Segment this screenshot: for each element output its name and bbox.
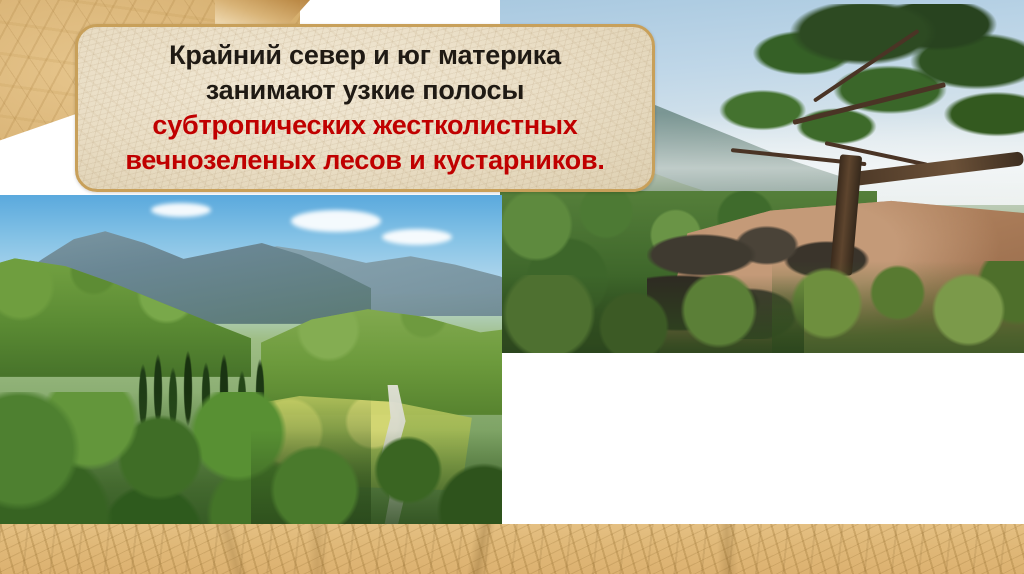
scrub-right [772, 261, 1024, 353]
cloud [382, 229, 452, 245]
old-map-band-bottom [0, 524, 1024, 574]
callout-line-4: вечнозеленых лесов и кустарников. [88, 143, 642, 178]
callout-line-2: занимают узкие полосы [88, 73, 642, 108]
photo-green-valley: Image [0, 195, 502, 574]
text-callout-box: Крайний север и юг материка занимают узк… [75, 24, 655, 192]
cloud [151, 203, 211, 217]
scrub-left [500, 275, 804, 353]
slide-canvas: Image Крайний север и юг материка занима… [0, 0, 1024, 574]
callout-line-3: субтропических жестколистных [88, 108, 642, 143]
callout-line-1: Крайний север и юг материка [88, 38, 642, 73]
map-contour-lines [0, 524, 1024, 574]
